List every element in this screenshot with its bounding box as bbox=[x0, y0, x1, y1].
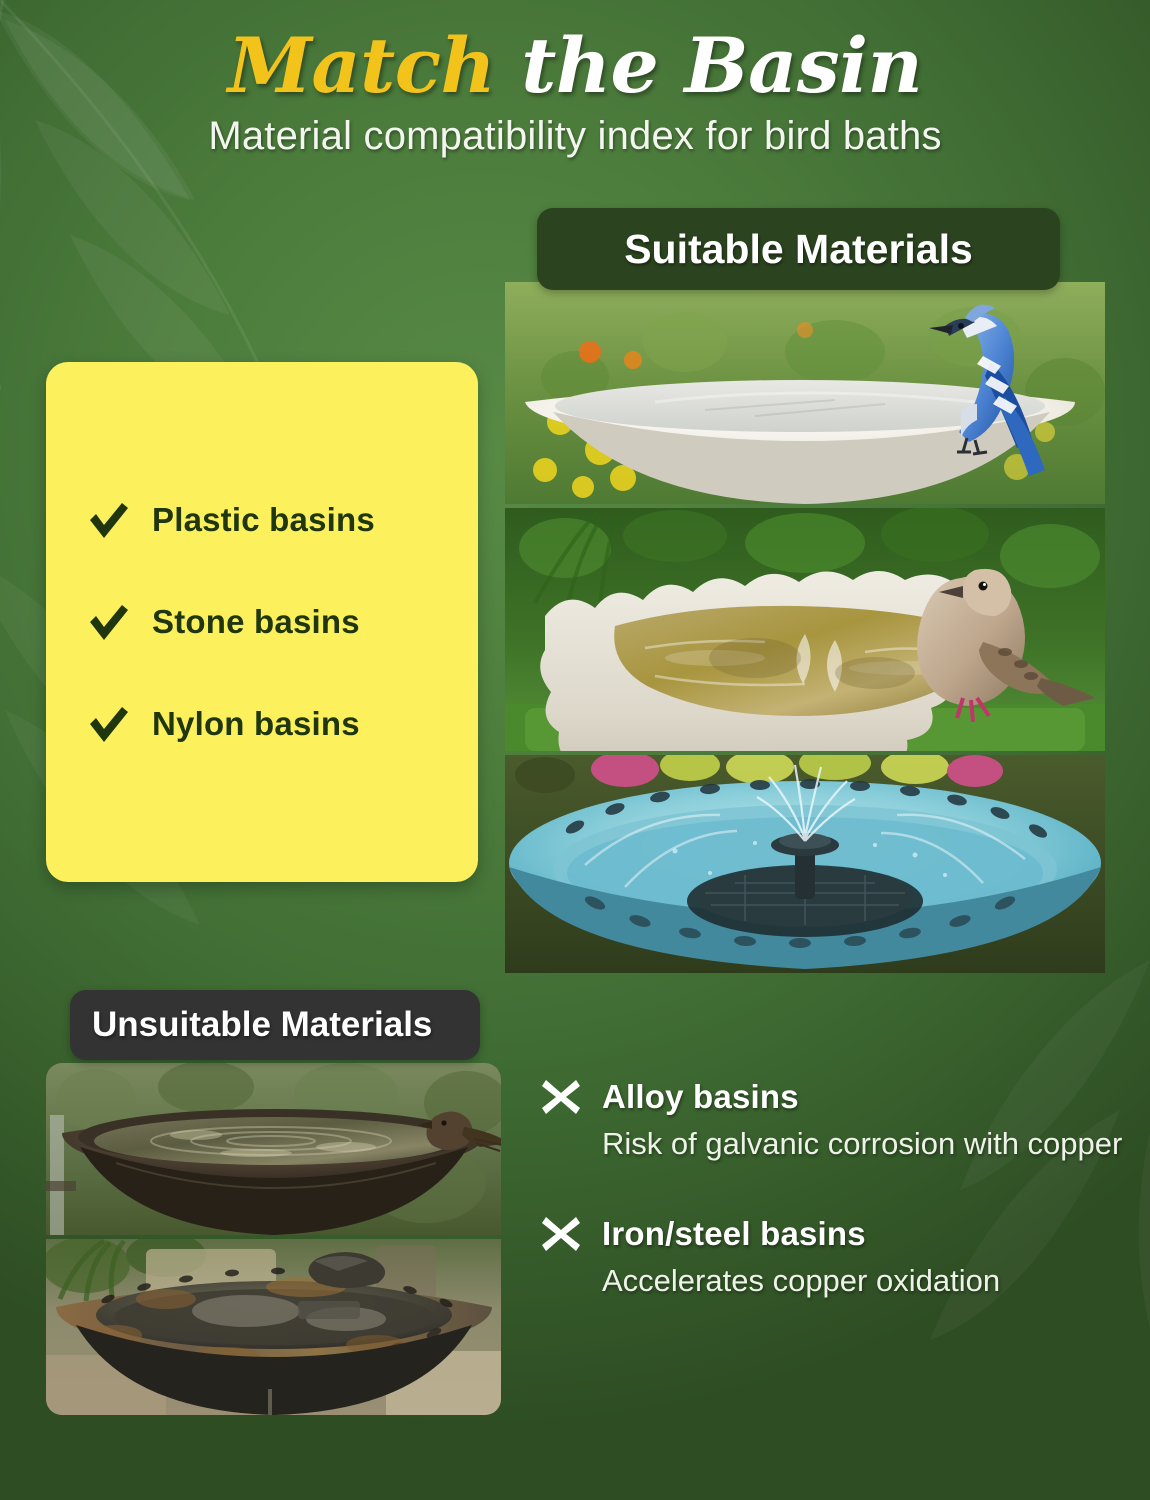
unsuitable-item-description: Risk of galvanic corrosion with copper bbox=[602, 1125, 1132, 1163]
page-title-rest: the Basin bbox=[495, 21, 922, 110]
unsuitable-item-title: Alloy basins bbox=[602, 1078, 799, 1116]
unsuitable-item-heading: Alloy basins bbox=[542, 1078, 1132, 1116]
page-title: Match the Basin bbox=[0, 26, 1150, 106]
rusted-iron-birdbath-photo bbox=[46, 1239, 501, 1415]
suitable-item-label: Stone basins bbox=[152, 603, 360, 641]
unsuitable-item-title: Iron/steel basins bbox=[602, 1215, 866, 1253]
teal-glazed-birdbath-with-solar-fountain-photo bbox=[505, 755, 1105, 973]
unsuitable-item-heading: Iron/steel basins bbox=[542, 1215, 1132, 1253]
poster-header: Match the Basin Material compatibility i… bbox=[0, 0, 1150, 159]
check-icon bbox=[86, 498, 130, 542]
list-item: Alloy basins Risk of galvanic corrosion … bbox=[542, 1078, 1132, 1163]
suitable-item-label: Nylon basins bbox=[152, 705, 360, 743]
dark-bronze-metal-birdbath-photo bbox=[46, 1063, 501, 1235]
page-title-highlight: Match bbox=[228, 21, 496, 110]
scalloped-stone-birdbath-with-dove-photo bbox=[505, 508, 1105, 751]
list-item: Plastic basins bbox=[86, 498, 478, 542]
infographic-poster: Match the Basin Material compatibility i… bbox=[0, 0, 1150, 1500]
white-ceramic-birdbath-with-blue-jay-photo bbox=[505, 282, 1105, 504]
page-subtitle: Material compatibility index for bird ba… bbox=[0, 114, 1150, 159]
list-item: Stone basins bbox=[86, 600, 478, 644]
suitable-materials-badge-label: Suitable Materials bbox=[624, 226, 973, 273]
x-icon bbox=[542, 1078, 580, 1116]
check-icon bbox=[86, 600, 130, 644]
unsuitable-materials-badge-label: Unsuitable Materials bbox=[92, 1005, 432, 1045]
list-item: Nylon basins bbox=[86, 702, 478, 746]
suitable-item-label: Plastic basins bbox=[152, 501, 375, 539]
unsuitable-materials-list: Alloy basins Risk of galvanic corrosion … bbox=[542, 1078, 1132, 1352]
unsuitable-item-description: Accelerates copper oxidation bbox=[602, 1262, 1132, 1300]
x-icon bbox=[542, 1215, 580, 1253]
unsuitable-materials-badge: Unsuitable Materials bbox=[70, 990, 480, 1060]
check-icon bbox=[86, 702, 130, 746]
suitable-materials-badge: Suitable Materials bbox=[537, 208, 1060, 290]
list-item: Iron/steel basins Accelerates copper oxi… bbox=[542, 1215, 1132, 1300]
suitable-materials-checklist-card: Plastic basins Stone basins Nylon basins bbox=[46, 362, 478, 882]
